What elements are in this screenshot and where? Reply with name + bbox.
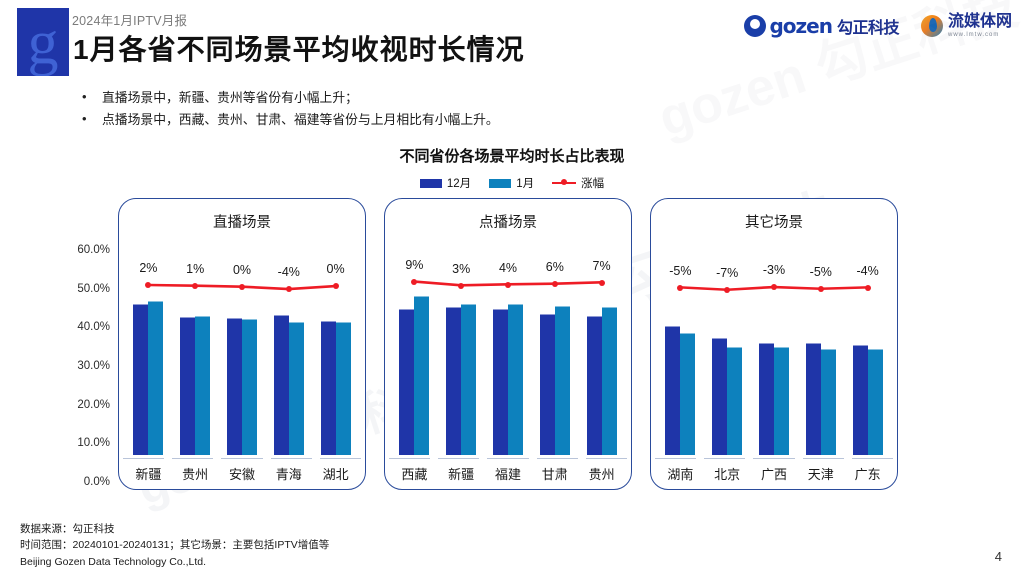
footer: 数据来源：勾正科技 时间范围：20240101-20240131；其它场景：主要… (20, 521, 329, 568)
x-axis-tick-label: 贵州 (182, 464, 208, 483)
y-axis-tick: 20.0% (77, 399, 110, 411)
plot-area: 9%3%4%6%7% (391, 251, 625, 455)
legend-label: 1月 (516, 175, 534, 191)
growth-label: -5% (810, 265, 832, 279)
gozen-logo: gozen 勾正科技 (744, 14, 899, 38)
x-axis-tick-label: 广西 (761, 464, 787, 483)
y-axis-tick: 60.0% (77, 244, 110, 256)
growth-point (505, 282, 511, 288)
growth-point (818, 286, 824, 292)
growth-label: -4% (278, 265, 300, 279)
page-title: 1月各省不同场景平均收视时长情况 (73, 28, 525, 68)
growth-label: 0% (233, 263, 251, 277)
x-axis-tick-label: 新疆 (135, 464, 161, 483)
panel-title: 其它场景 (651, 211, 897, 232)
legend-swatch-icon (420, 179, 442, 188)
lmtw-text: 流媒体网 www.lmtw.com (948, 14, 1012, 38)
x-axis-tick-label: 福建 (495, 464, 521, 483)
y-axis-tick: 40.0% (77, 321, 110, 333)
y-axis-tick: 30.0% (77, 360, 110, 372)
gozen-mark-icon (744, 15, 766, 37)
legend-swatch-icon (489, 179, 511, 188)
growth-label: 0% (327, 262, 345, 276)
y-axis-tick: 50.0% (77, 283, 110, 295)
x-axis-labels: 西藏新疆福建甘肃贵州 (391, 459, 625, 483)
growth-label: 7% (593, 259, 611, 273)
growth-label: -3% (763, 263, 785, 277)
growth-label: 2% (139, 261, 157, 275)
legend-item-2: 涨幅 (552, 175, 604, 191)
legend-label: 12月 (447, 175, 471, 191)
y-axis-tick: 10.0% (77, 437, 110, 449)
footer-company: Beijing Gozen Data Technology Co.,Ltd. (20, 556, 329, 568)
chart-legend: 12月1月涨幅 (0, 175, 1024, 191)
growth-label: 3% (452, 262, 470, 276)
growth-line (657, 251, 891, 455)
bullet-item: 点播场景中，西藏、贵州、甘肃、福建等省份与上月相比有小幅上升。 (80, 109, 499, 131)
x-axis-labels: 湖南北京广西天津广东 (657, 459, 891, 483)
growth-point (333, 283, 339, 289)
footer-source: 数据来源：勾正科技 (20, 521, 329, 537)
gozen-wordmark: gozen (769, 14, 832, 38)
growth-label: -7% (716, 266, 738, 280)
growth-label: -4% (856, 264, 878, 278)
chart-panel-2: 其它场景-5%-7%-3%-5%-4%湖南北京广西天津广东 (650, 198, 898, 490)
slide: g 2024年1月IPTV月报 1月各省不同场景平均收视时长情况 直播场景中，新… (0, 0, 1024, 576)
page-number: 4 (995, 549, 1002, 564)
x-axis-tick-label: 北京 (714, 464, 740, 483)
summary-bullets: 直播场景中，新疆、贵州等省份有小幅上升； 点播场景中，西藏、贵州、甘肃、福建等省… (80, 87, 499, 131)
footer-range: 时间范围：20240101-20240131；其它场景：主要包括IPTV增值等 (20, 537, 329, 553)
growth-label: -5% (669, 264, 691, 278)
bullet-item: 直播场景中，新疆、贵州等省份有小幅上升； (80, 87, 499, 109)
x-axis-tick-label: 湖南 (667, 464, 693, 483)
gozen-chinese-name: 勾正科技 (837, 14, 899, 38)
chart-panels: 直播场景2%1%0%-4%0%新疆贵州安徽青海湖北点播场景9%3%4%6%7%西… (118, 198, 898, 490)
legend-label: 涨幅 (581, 175, 604, 191)
growth-line (125, 251, 359, 455)
plot-area: 2%1%0%-4%0% (125, 251, 359, 455)
chart-title: 不同省份各场景平均时长占比表现 (0, 145, 1024, 166)
x-axis-tick-label: 湖北 (323, 464, 349, 483)
x-axis-tick-label: 西藏 (401, 464, 427, 483)
y-axis: 0.0%10.0%20.0%30.0%40.0%50.0%60.0% (52, 250, 110, 482)
x-axis-tick-label: 青海 (276, 464, 302, 483)
x-axis-tick-label: 新疆 (448, 464, 474, 483)
legend-item-1: 1月 (489, 175, 534, 191)
growth-label: 1% (186, 262, 204, 276)
report-kicker: 2024年1月IPTV月报 (72, 10, 187, 29)
gozen-g-logo: g (28, 12, 59, 74)
x-axis-tick-label: 广东 (855, 464, 881, 483)
x-axis-tick-label: 贵州 (589, 464, 615, 483)
growth-point (552, 281, 558, 287)
lmtw-logo: 流媒体网 www.lmtw.com (921, 14, 1012, 38)
legend-line-icon (552, 178, 576, 188)
growth-point (865, 285, 871, 291)
growth-label: 9% (405, 258, 423, 272)
brand-logos: gozen 勾正科技 流媒体网 www.lmtw.com (744, 14, 1012, 38)
chart-panel-1: 点播场景9%3%4%6%7%西藏新疆福建甘肃贵州 (384, 198, 632, 490)
lmtw-chinese-name: 流媒体网 (948, 14, 1012, 30)
y-axis-tick: 0.0% (84, 476, 110, 488)
brand-logo-block: g (17, 8, 69, 76)
plot-area: -5%-7%-3%-5%-4% (657, 251, 891, 455)
lmtw-url: www.lmtw.com (948, 32, 1012, 38)
legend-item-0: 12月 (420, 175, 471, 191)
panel-title: 直播场景 (119, 211, 365, 232)
chart-panel-0: 直播场景2%1%0%-4%0%新疆贵州安徽青海湖北 (118, 198, 366, 490)
x-axis-tick-label: 甘肃 (542, 464, 568, 483)
growth-point (458, 283, 464, 289)
lmtw-mark-icon (921, 15, 943, 37)
x-axis-tick-label: 安徽 (229, 464, 255, 483)
growth-label: 4% (499, 261, 517, 275)
panel-title: 点播场景 (385, 211, 631, 232)
x-axis-tick-label: 天津 (808, 464, 834, 483)
growth-point (599, 280, 605, 286)
growth-label: 6% (546, 260, 564, 274)
growth-point (239, 284, 245, 290)
x-axis-labels: 新疆贵州安徽青海湖北 (125, 459, 359, 483)
